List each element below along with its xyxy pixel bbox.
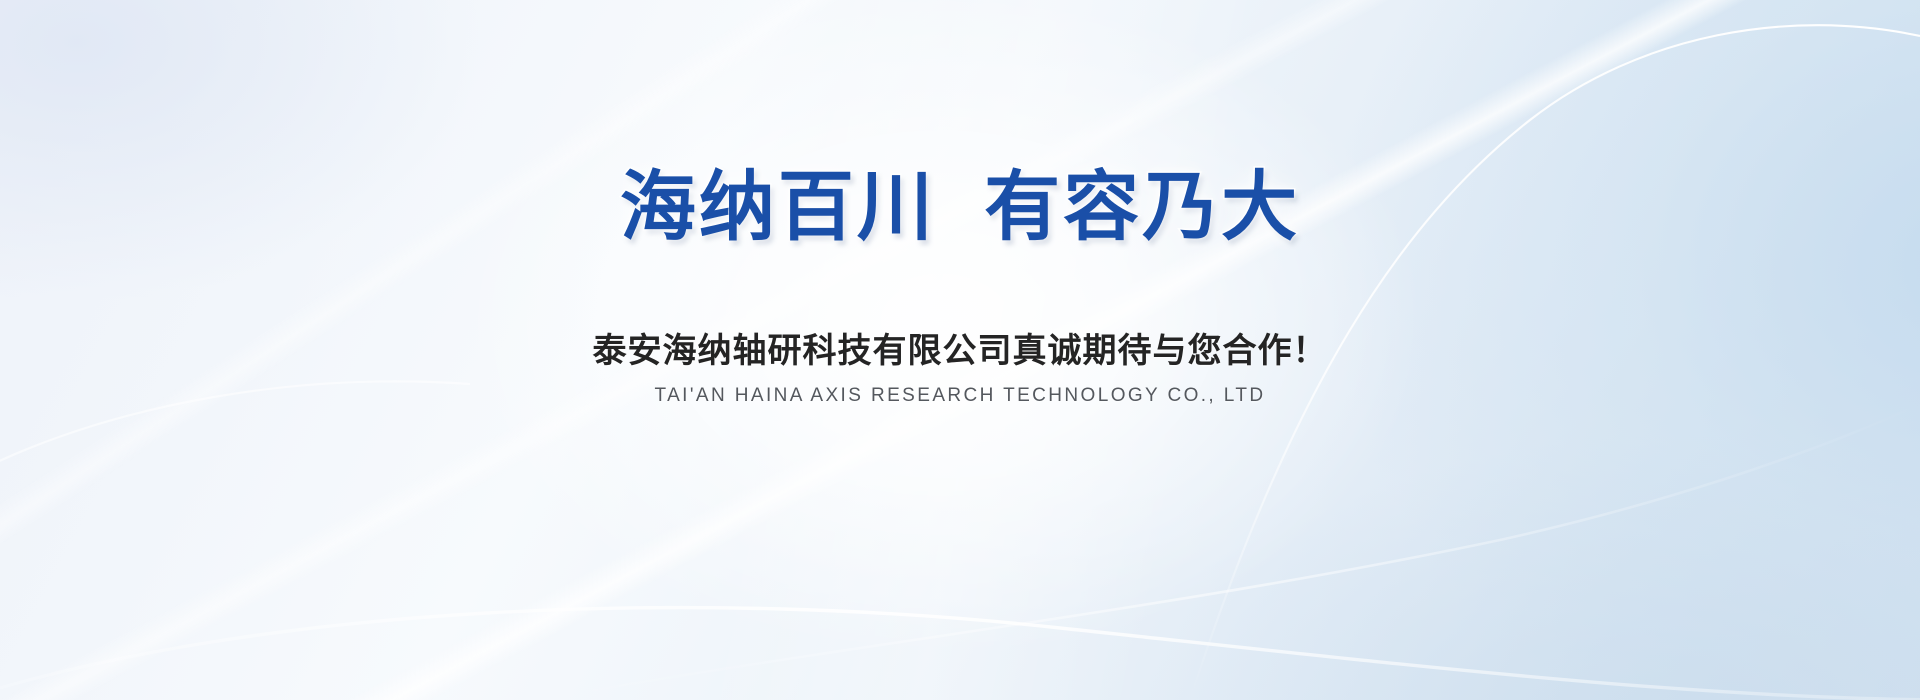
subtitle-english: TAI'AN HAINA AXIS RESEARCH TECHNOLOGY CO…: [655, 385, 1266, 407]
hero-banner: 海纳百川 有容乃大 泰安海纳轴研科技有限公司真诚期待与您合作！ TAI'AN H…: [0, 0, 1920, 700]
page-title: 海纳百川 有容乃大: [620, 168, 1300, 249]
banner-content: 海纳百川 有容乃大 泰安海纳轴研科技有限公司真诚期待与您合作！ TAI'AN H…: [0, 0, 1920, 700]
subtitle-chinese: 泰安海纳轴研科技有限公司真诚期待与您合作！: [593, 323, 1328, 372]
